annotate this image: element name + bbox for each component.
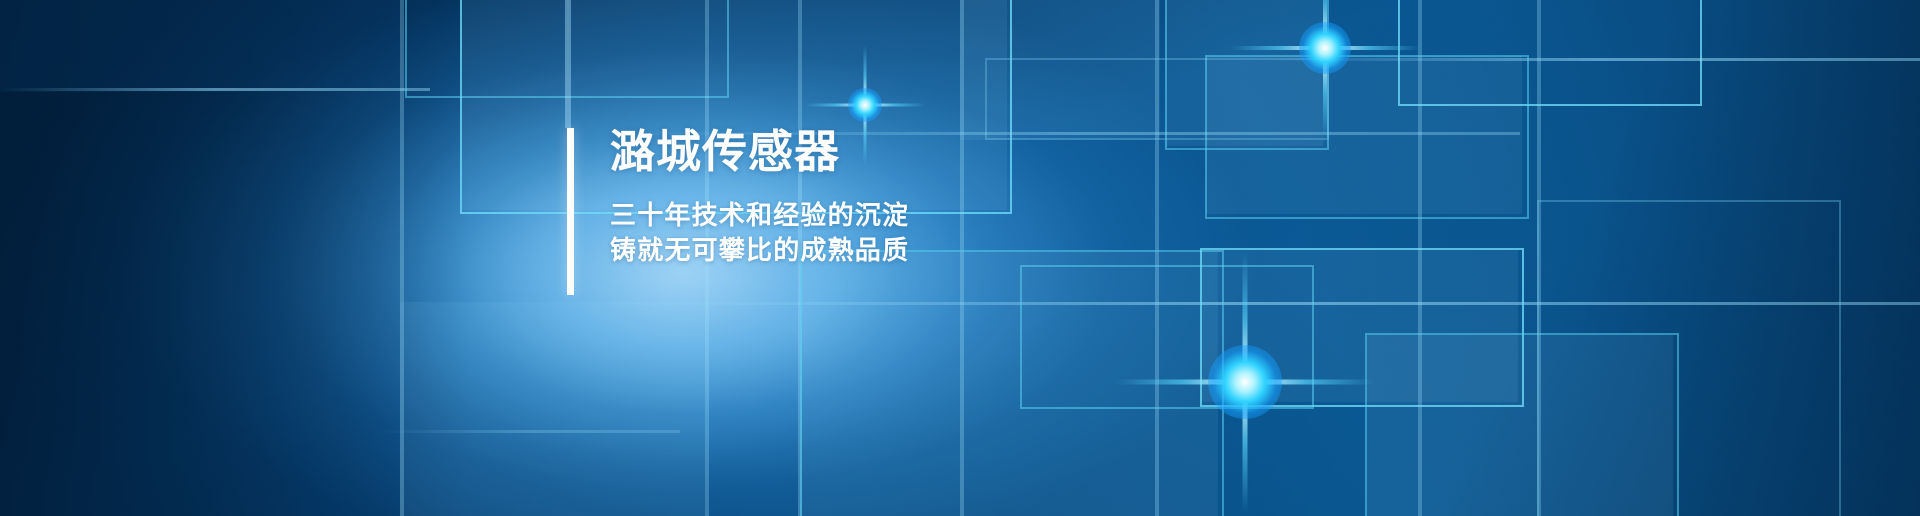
hero-banner: 潞城传感器 三十年技术和经验的沉淀 铸就无可攀比的成熟品质 [0,0,1920,516]
decor-vline-b [565,0,571,128]
decor-hline-left-top [0,88,430,91]
page-title: 潞城传感器 [610,128,909,176]
hero-subtitle-line-1: 三十年技术和经验的沉淀 [610,198,909,233]
decor-hline-bottom [380,430,680,433]
decor-rect-lower-e [1537,200,1841,516]
hero-copy: 潞城传感器 三十年技术和经验的沉淀 铸就无可攀比的成熟品质 [610,128,909,267]
decor-panel-far-left [0,0,400,92]
white-vertical-accent-bar [567,128,574,295]
hero-text-block: 潞城传感器 三十年技术和经验的沉淀 铸就无可攀比的成熟品质 [567,128,909,295]
hero-subtitle-line-2: 铸就无可攀比的成熟品质 [610,233,909,268]
decor-rect-tall-right [985,58,1329,140]
hero-subtitle: 三十年技术和经验的沉淀 铸就无可攀比的成熟品质 [610,198,909,268]
decor-panel-lower-left [400,302,705,516]
